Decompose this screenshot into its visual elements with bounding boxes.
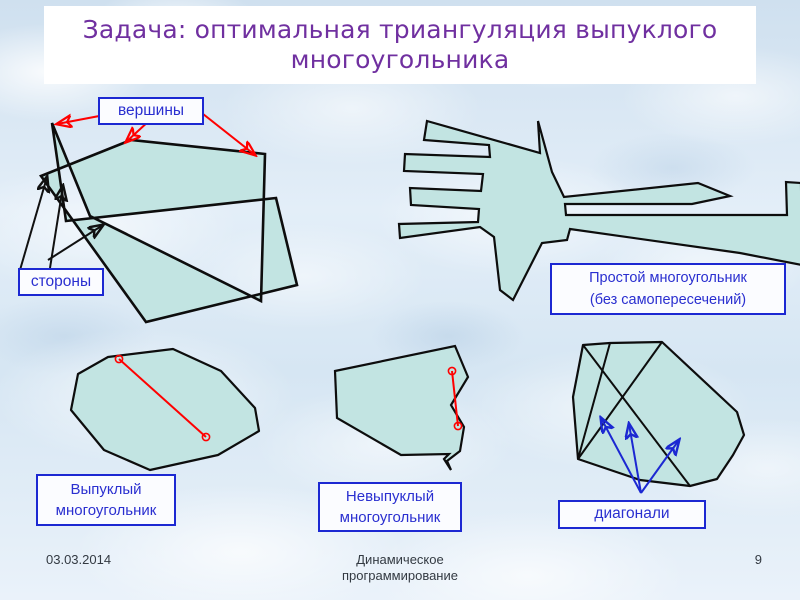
label-simple-polygon-line-2: (без самопересечений) — [557, 291, 779, 310]
footer-page-number: 9 — [755, 552, 762, 567]
label-vertices-text: вершины — [118, 102, 184, 119]
label-convex-line-1: Выпуклый — [70, 481, 141, 498]
footer-subject-line-2: программирование — [342, 568, 458, 583]
label-nonconvex-line-2: многоугольник — [325, 508, 455, 528]
label-vertices: вершины — [98, 97, 204, 125]
footer-subject-line-1: Динамическое — [356, 552, 443, 567]
label-nonconvex-polygon: Невыпуклый многоугольник — [318, 482, 462, 532]
label-nonconvex-line-1: Невыпуклый — [346, 488, 434, 505]
nonconvex-polygon — [335, 346, 468, 470]
label-convex-polygon: Выпуклый многоугольник — [36, 474, 176, 526]
slide-footer: 03.03.2014 Динамическое программирование… — [0, 546, 800, 594]
label-sides: стороны — [18, 268, 104, 296]
label-sides-text: стороны — [31, 273, 91, 290]
label-simple-polygon-line-1: Простой многоугольник — [589, 270, 747, 286]
slide: Задача: оптимальная триангуляция выпукло… — [0, 0, 800, 600]
label-diagonals-text: диагонали — [594, 505, 669, 522]
label-simple-polygon: Простой многоугольник (без самопересечен… — [550, 263, 786, 315]
label-diagonals: диагонали — [558, 500, 706, 529]
side-arrow-1 — [20, 177, 47, 270]
footer-subject: Динамическое программирование — [0, 552, 800, 585]
diagonals-polygon — [573, 342, 744, 486]
convex-polygon — [71, 349, 259, 470]
label-convex-line-2: многоугольник — [43, 501, 169, 521]
